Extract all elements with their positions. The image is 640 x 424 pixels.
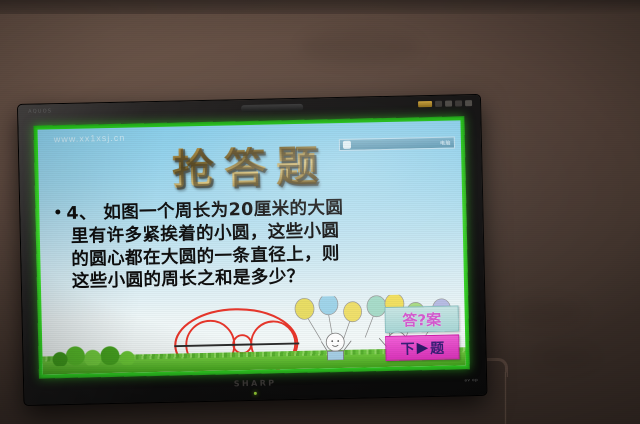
photo-vignette [0,0,640,424]
photo-scene: AQUOS www.xx1xsj.cn 电脑 抢答题 •4、 如图一个周长为20… [0,0,640,424]
